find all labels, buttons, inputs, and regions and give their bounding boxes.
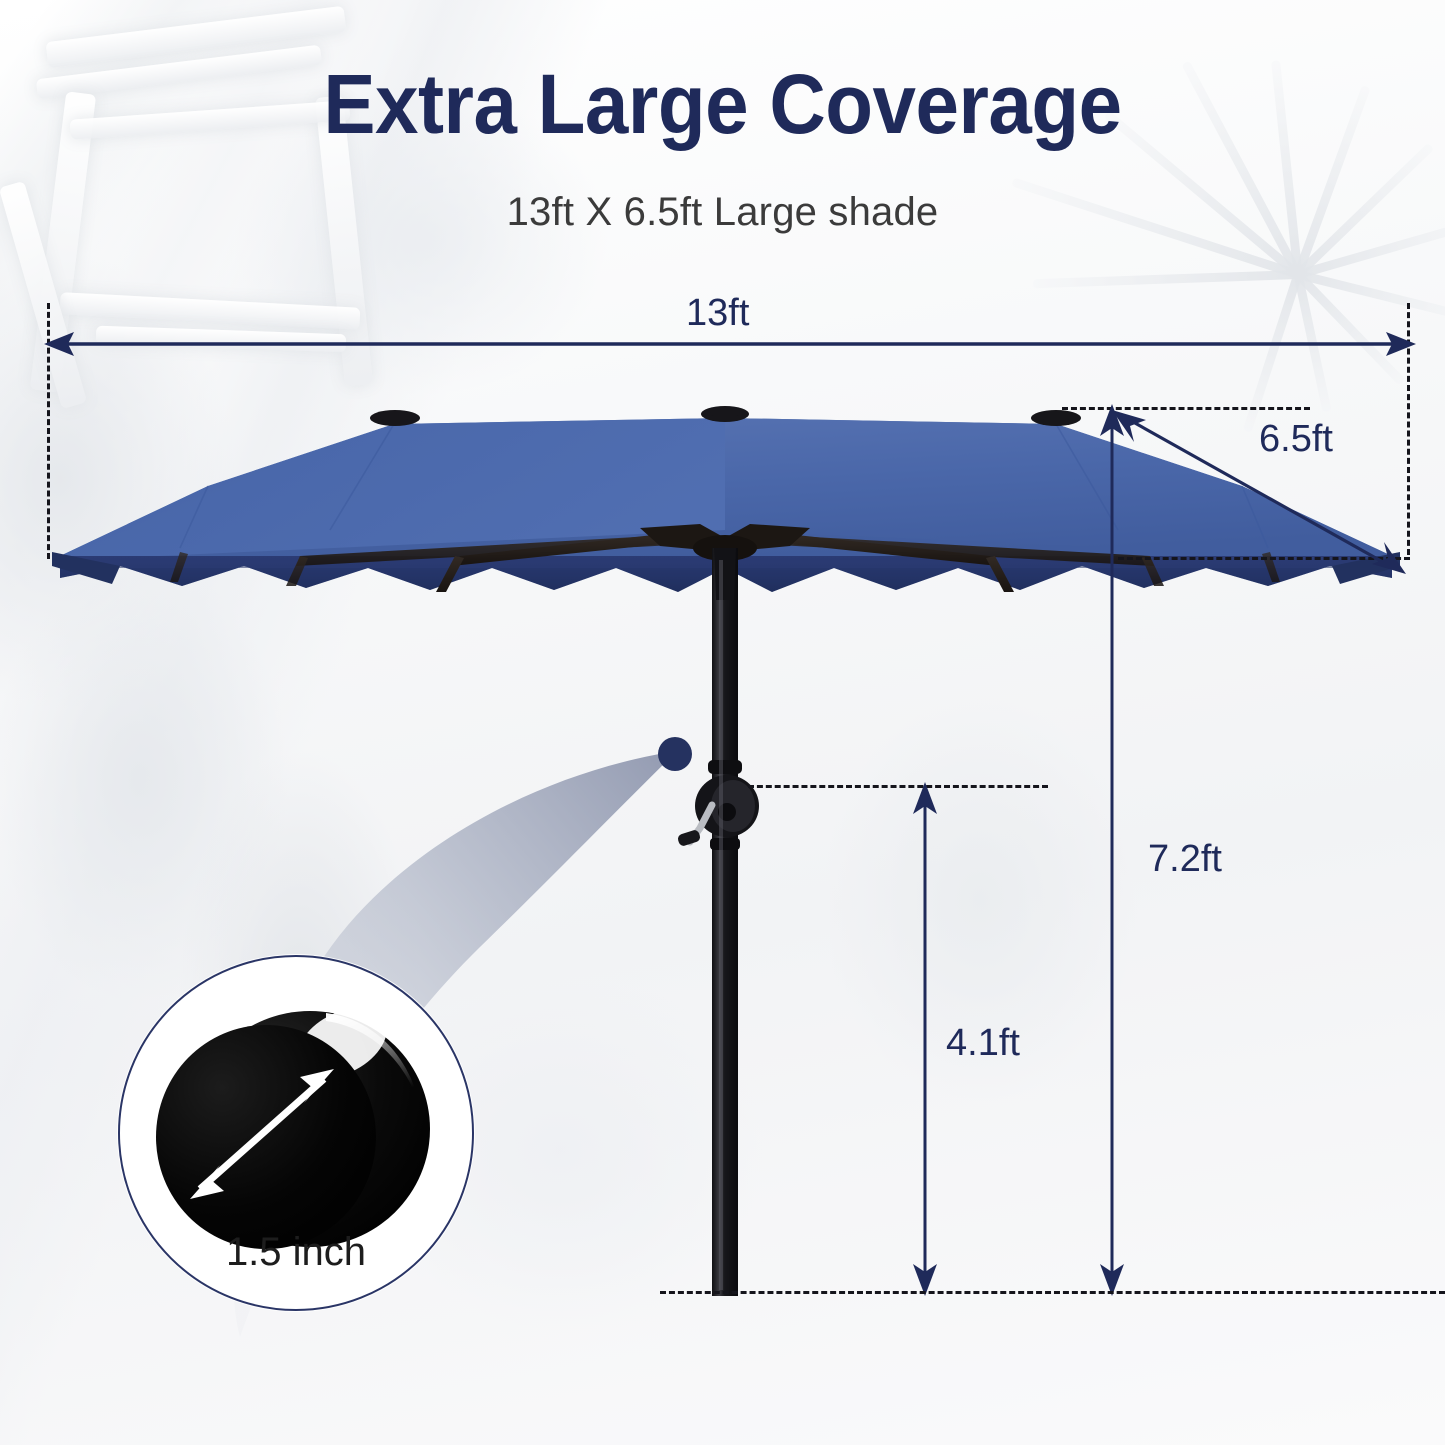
total-height-arrow (1092, 400, 1132, 1300)
depth-dimension-label: 6.5ft (1259, 418, 1333, 461)
pole-diameter-label: 1.5 inch (120, 1230, 472, 1275)
clearance-height-label: 4.1ft (946, 1022, 1020, 1065)
clearance-guide-top (748, 785, 1048, 788)
ground-baseline (660, 1291, 1445, 1294)
clearance-height-arrow (905, 778, 945, 1300)
infographic-canvas: Extra Large Coverage 13ft X 6.5ft Large … (0, 0, 1445, 1445)
total-height-label: 7.2ft (1148, 838, 1222, 881)
pole-marker-dot (658, 737, 692, 771)
pole-diameter-callout: 1.5 inch (118, 955, 474, 1311)
